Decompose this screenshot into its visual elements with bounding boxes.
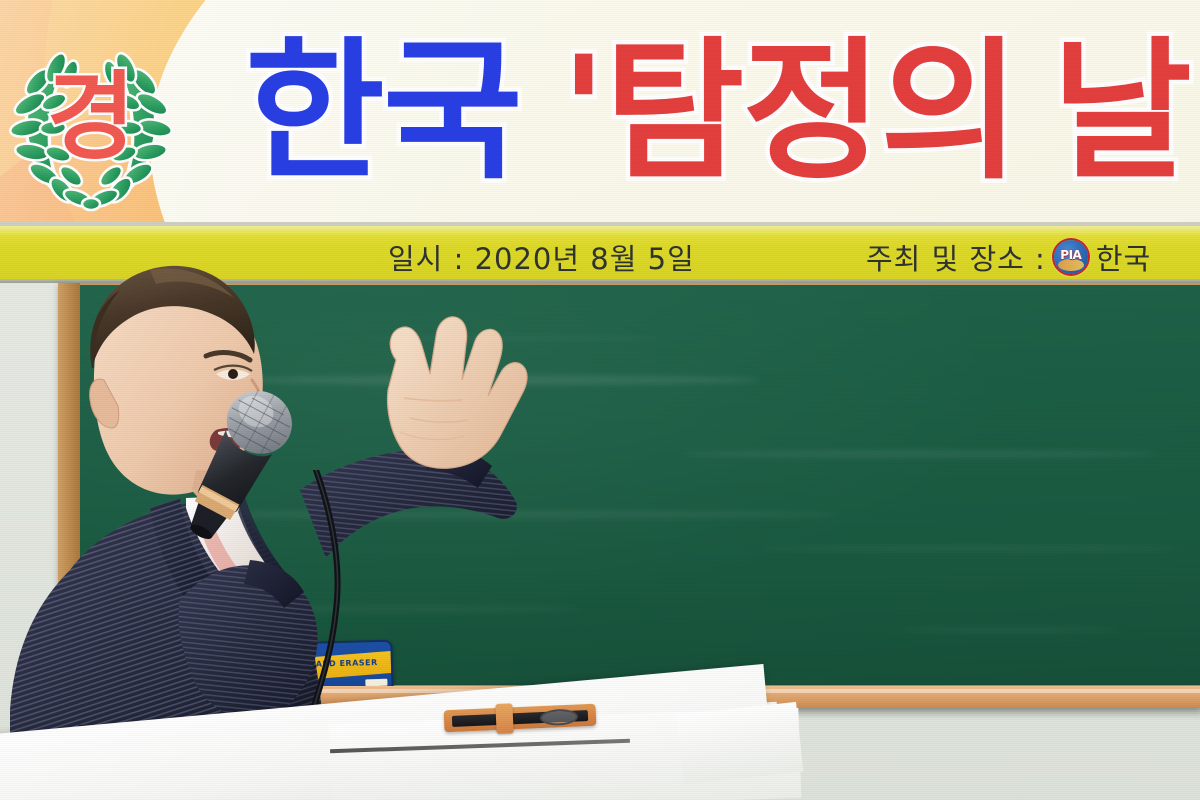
banner-title: 한국 ' 탐정의 날 (245, 22, 1200, 202)
banner-title-part-1: ' (561, 37, 605, 187)
banner-title-part-3: 날 (1052, 36, 1190, 188)
banner-title-part-0: 한국 (245, 36, 521, 188)
desk-paper-sheet (677, 702, 804, 784)
photo-scene: 경 한국 ' 탐정의 날 일시 : 2020년 8월 5일 주최 및 장소 : … (0, 0, 1200, 800)
laurel-wreath-emblem: 경 (8, 16, 174, 212)
banner-host-name: 한국 (1096, 236, 1151, 278)
case-strap (495, 703, 513, 734)
pia-globe-logo (1054, 240, 1088, 274)
banner-host-label: 주최 및 장소 : (866, 236, 1046, 278)
banner-title-part-2: 탐정의 (605, 36, 1019, 188)
open-palm-hand (388, 317, 528, 469)
emblem-center-char: 경 (47, 61, 135, 173)
microphone-cable (250, 470, 390, 720)
banner-host-group: 주최 및 장소 : 한국 (866, 236, 1151, 278)
